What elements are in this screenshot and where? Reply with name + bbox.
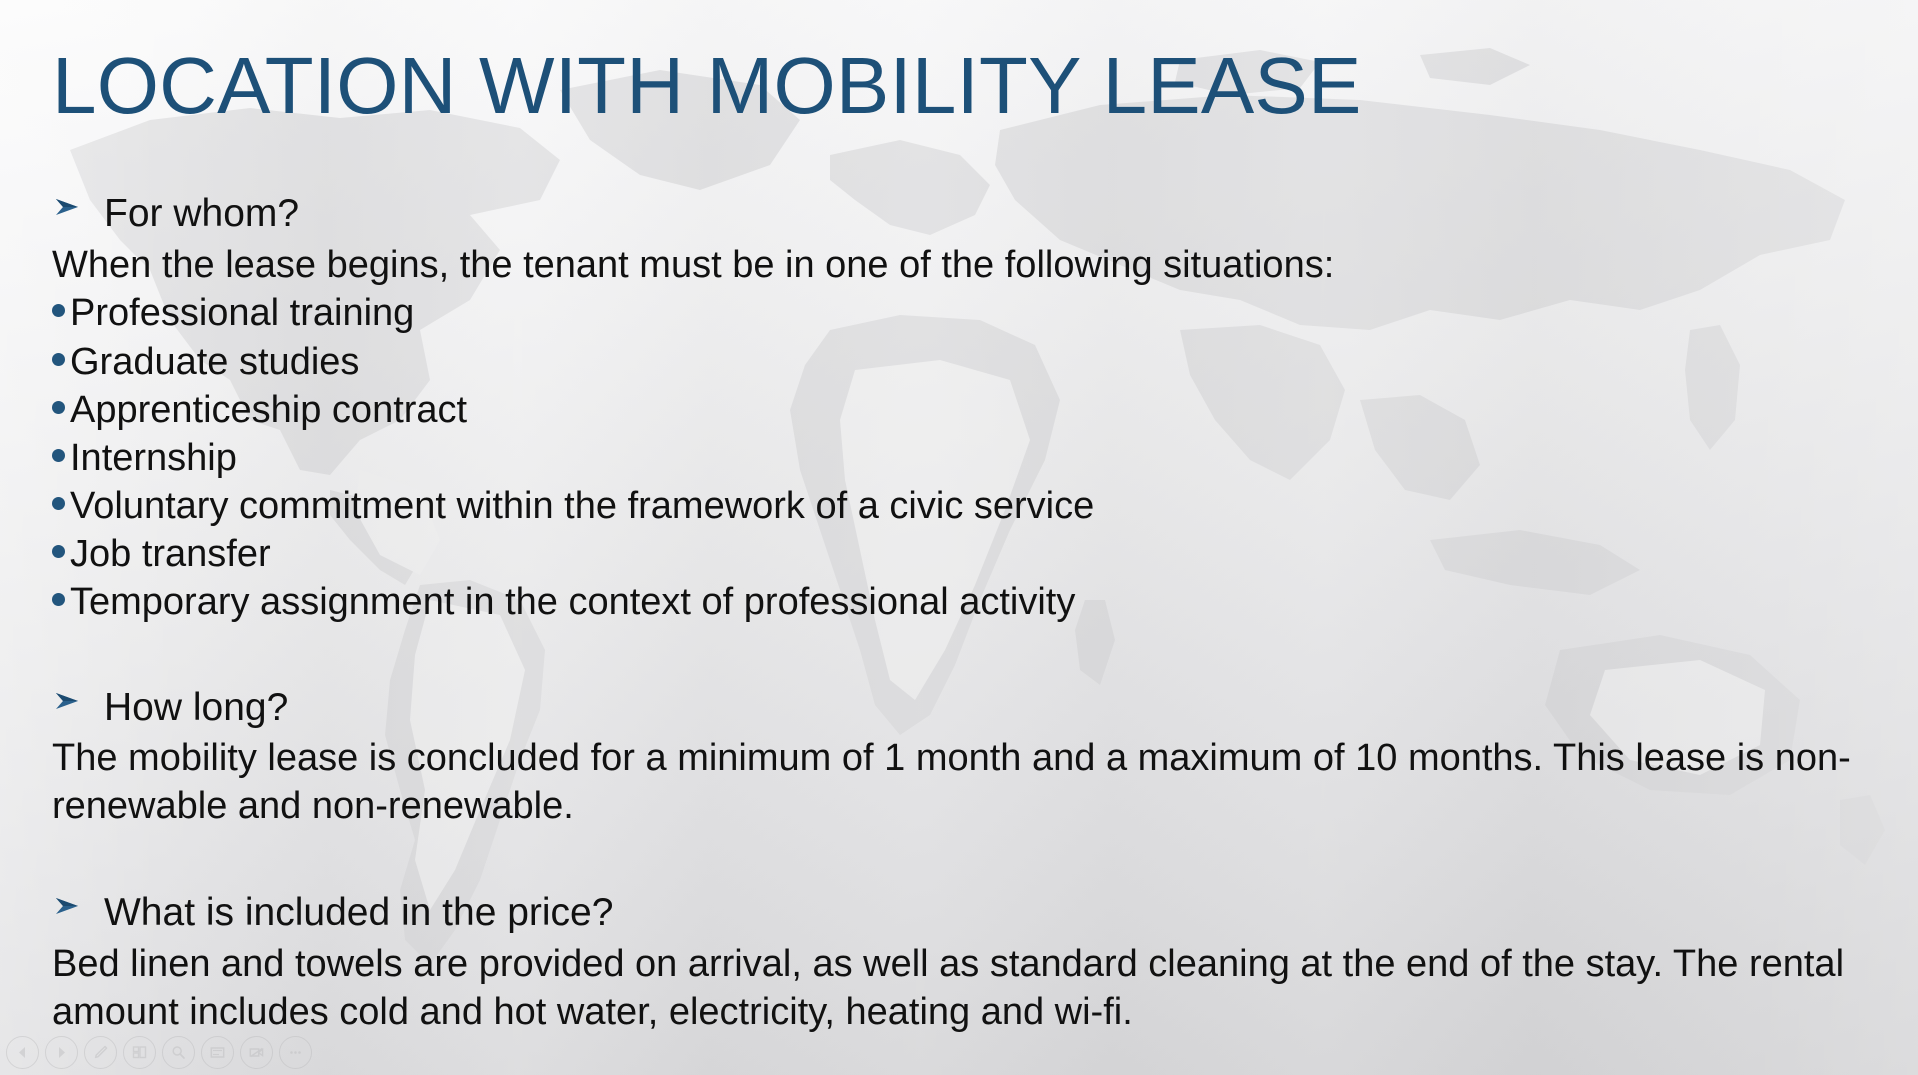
dot-bullet-icon [52,497,65,510]
previous-slide-button[interactable] [6,1036,39,1069]
dot-bullet-icon [52,353,65,366]
section-heading: How long? [52,684,1867,732]
zoom-button[interactable] [162,1036,195,1069]
section-heading-label: For whom? [104,190,299,238]
section-how-long: How long? The mobility lease is conclude… [52,684,1867,831]
list-item-label: Temporary assignment in the context of p… [70,578,1075,626]
section-paragraph: When the lease begins, the tenant must b… [52,242,1867,290]
dot-bullet-icon [52,401,65,414]
section-paragraph: Bed linen and towels are provided on arr… [52,941,1867,1037]
list-item: Apprenticeship contract [52,386,1867,434]
arrow-bullet-icon [52,192,104,222]
screen-icon [209,1044,226,1061]
media-off-button[interactable] [240,1036,273,1069]
list-item: Professional training [52,289,1867,337]
slideshow-toolbar[interactable] [6,1036,312,1069]
dot-bullet-icon [52,449,65,462]
arrow-bullet-icon [52,891,104,921]
ellipsis-icon [287,1044,304,1061]
list-item-label: Internship [70,434,237,482]
video-off-icon [248,1044,265,1061]
dot-bullet-icon [52,545,65,558]
list-item: Graduate studies [52,338,1867,386]
presenter-view-button[interactable] [201,1036,234,1069]
section-heading-label: How long? [104,684,288,732]
slide-body: For whom? When the lease begins, the ten… [52,190,1867,1037]
section-heading: What is included in the price? [52,889,1867,937]
next-icon [54,1045,69,1060]
section-heading-label: What is included in the price? [104,889,613,937]
slide-grid-button[interactable] [123,1036,156,1069]
list-item-label: Job transfer [70,530,271,578]
section-spacer [52,626,1867,684]
section-heading: For whom? [52,190,1867,238]
list-item: Temporary assignment in the context of p… [52,578,1867,626]
list-item-label: Graduate studies [70,338,359,386]
magnifier-icon [170,1044,187,1061]
section-for-whom: For whom? When the lease begins, the ten… [52,190,1867,626]
more-options-button[interactable] [279,1036,312,1069]
list-item: Internship [52,434,1867,482]
dot-bullet-icon [52,304,65,317]
dot-bullet-icon [52,593,65,606]
next-slide-button[interactable] [45,1036,78,1069]
page-title: LOCATION WITH MOBILITY LEASE [52,44,1362,128]
list-item-label: Professional training [70,289,414,337]
pen-annotate-button[interactable] [84,1036,117,1069]
arrow-bullet-icon [52,686,104,716]
presentation-slide: LOCATION WITH MOBILITY LEASE For whom? W… [0,0,1918,1075]
grid-icon [131,1044,148,1061]
pen-icon [92,1044,109,1061]
section-spacer [52,831,1867,889]
list-item: Job transfer [52,530,1867,578]
previous-icon [15,1045,30,1060]
section-what-is-included: What is included in the price? Bed linen… [52,889,1867,1036]
list-item-label: Apprenticeship contract [70,386,467,434]
list-item-label: Voluntary commitment within the framewor… [70,482,1094,530]
list-item: Voluntary commitment within the framewor… [52,482,1867,530]
situations-list: Professional training Graduate studies A… [52,289,1867,625]
section-paragraph: The mobility lease is concluded for a mi… [52,735,1867,831]
